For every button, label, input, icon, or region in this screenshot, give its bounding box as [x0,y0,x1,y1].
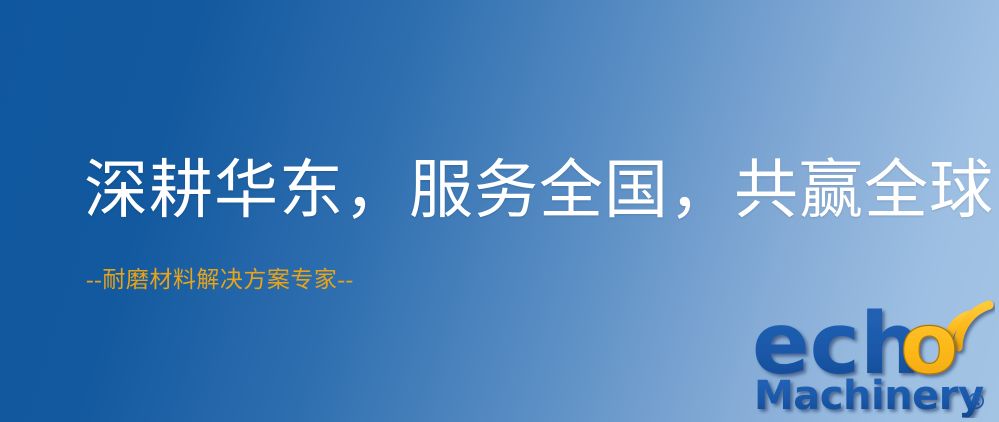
registered-mark-icon: ® [965,390,987,415]
hero-banner: 深耕华东，服务全国，共赢全球 --耐磨材料解决方案专家-- [0,0,999,422]
banner-subtitle: --耐磨材料解决方案专家-- [86,265,354,295]
echo-machinery-logo[interactable]: ech o Machinery ® [752,296,995,418]
banner-headline: 深耕华东，服务全国，共赢全球 [84,152,994,230]
logo-text-machinery: Machinery [754,373,984,418]
